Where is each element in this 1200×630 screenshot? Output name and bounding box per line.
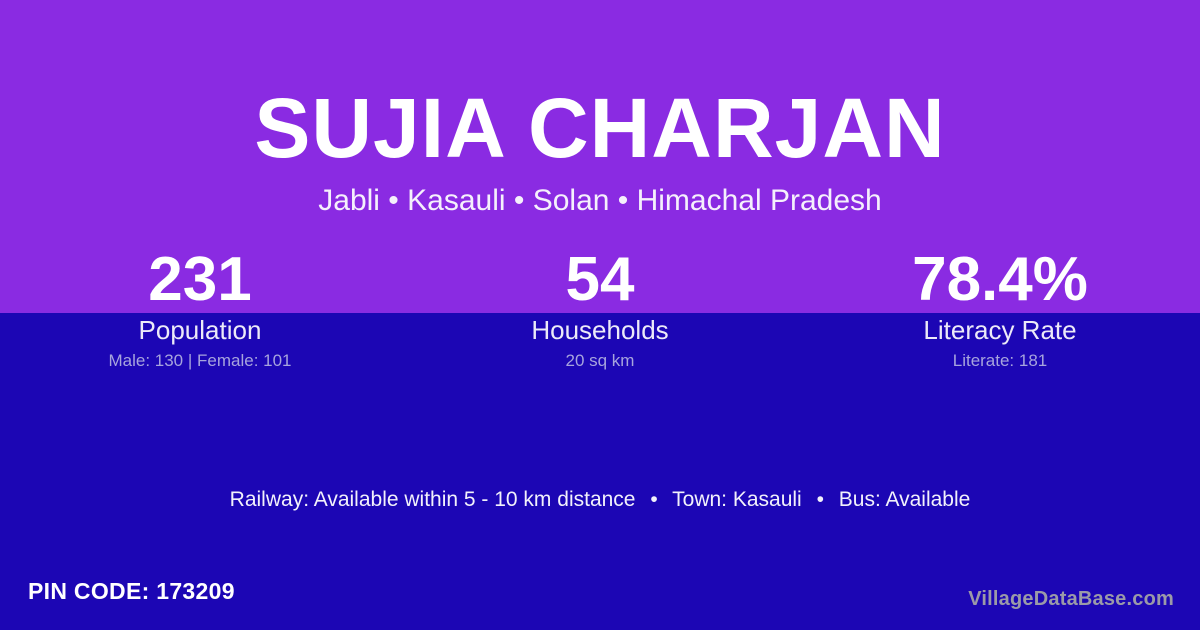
infrastructure-line: Railway: Available within 5 - 10 km dist… — [0, 486, 1200, 514]
stats-row: 231 Population Male: 130 | Female: 101 5… — [0, 248, 1200, 383]
site-watermark: VillageDataBase.com — [968, 586, 1174, 612]
stat-population-label: Population — [0, 314, 400, 346]
stat-households-value: 54 — [400, 248, 800, 312]
stat-households-label: Households — [400, 314, 800, 346]
stat-literacy-rate: 78.4% Literacy Rate Literate: 181 — [800, 248, 1200, 383]
village-info-card: SUJIA CHARJAN Jabli • Kasauli • Solan • … — [0, 0, 1200, 630]
stat-households: 54 Households 20 sq km — [400, 248, 800, 383]
stat-literacy-rate-value: 78.4% — [800, 248, 1200, 312]
breadcrumb: Jabli • Kasauli • Solan • Himachal Prade… — [0, 182, 1200, 220]
pin-code: PIN CODE: 173209 — [28, 576, 235, 606]
stat-households-sub: 20 sq km — [400, 350, 800, 372]
stat-population-value: 231 — [0, 248, 400, 312]
stat-population-sub: Male: 130 | Female: 101 — [0, 350, 400, 372]
infra-railway: Railway: Available within 5 - 10 km dist… — [230, 488, 636, 511]
infra-bus: Bus: Available — [839, 488, 971, 511]
infra-town: Town: Kasauli — [672, 488, 802, 511]
infra-separator-1: • — [641, 486, 666, 514]
page-title: SUJIA CHARJAN — [0, 82, 1200, 174]
stat-population: 231 Population Male: 130 | Female: 101 — [0, 248, 400, 383]
stat-literacy-rate-label: Literacy Rate — [800, 314, 1200, 346]
stat-literacy-rate-sub: Literate: 181 — [800, 350, 1200, 372]
infra-separator-2: • — [808, 486, 833, 514]
